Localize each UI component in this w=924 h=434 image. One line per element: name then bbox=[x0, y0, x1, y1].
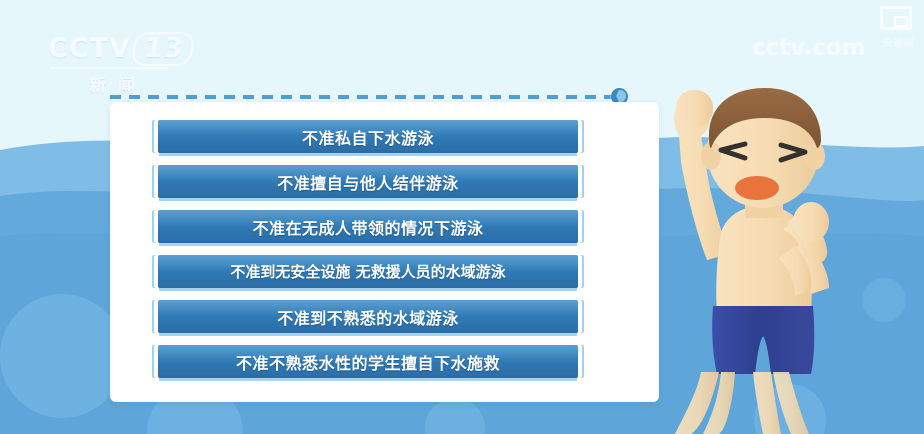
rule-item-label: 不准在无成人带领的情况下游泳 bbox=[252, 215, 483, 239]
rule-item-label: 不准不熟悉水性的学生擅自下水施救 bbox=[236, 350, 500, 374]
rule-item-label: 不准私自下水游泳 bbox=[302, 125, 434, 149]
bubble-large-left bbox=[0, 294, 124, 418]
dashed-connector-line bbox=[110, 95, 615, 99]
rule-item-label: 不准擅自与他人结伴游泳 bbox=[277, 170, 459, 194]
rules-list: 不准私自下水游泳 不准擅自与他人结伴游泳 不准在无成人带领的情况下游泳 不准到无… bbox=[158, 120, 578, 390]
broadcast-frame: CCTV13 新闻 cctv.com 央视网 不准私自下水游泳 不准擅自与他人结… bbox=[0, 0, 924, 434]
rule-item: 不准到无安全设施 无救援人员的水域游泳 bbox=[158, 255, 578, 288]
rule-item: 不准私自下水游泳 bbox=[158, 120, 578, 153]
rule-item: 不准不熟悉水性的学生擅自下水施救 bbox=[158, 345, 578, 378]
bubble-right bbox=[862, 278, 906, 322]
rule-item: 不准擅自与他人结伴游泳 bbox=[158, 165, 578, 198]
rule-item-label: 不准到无安全设施 无救援人员的水域游泳 bbox=[230, 261, 505, 282]
rule-item: 不准到不熟悉的水域游泳 bbox=[158, 300, 578, 333]
rule-item-label: 不准到不熟悉的水域游泳 bbox=[277, 305, 459, 329]
rule-item: 不准在无成人带领的情况下游泳 bbox=[158, 210, 578, 243]
rules-panel: 不准私自下水游泳 不准擅自与他人结伴游泳 不准在无成人带领的情况下游泳 不准到无… bbox=[110, 102, 659, 402]
